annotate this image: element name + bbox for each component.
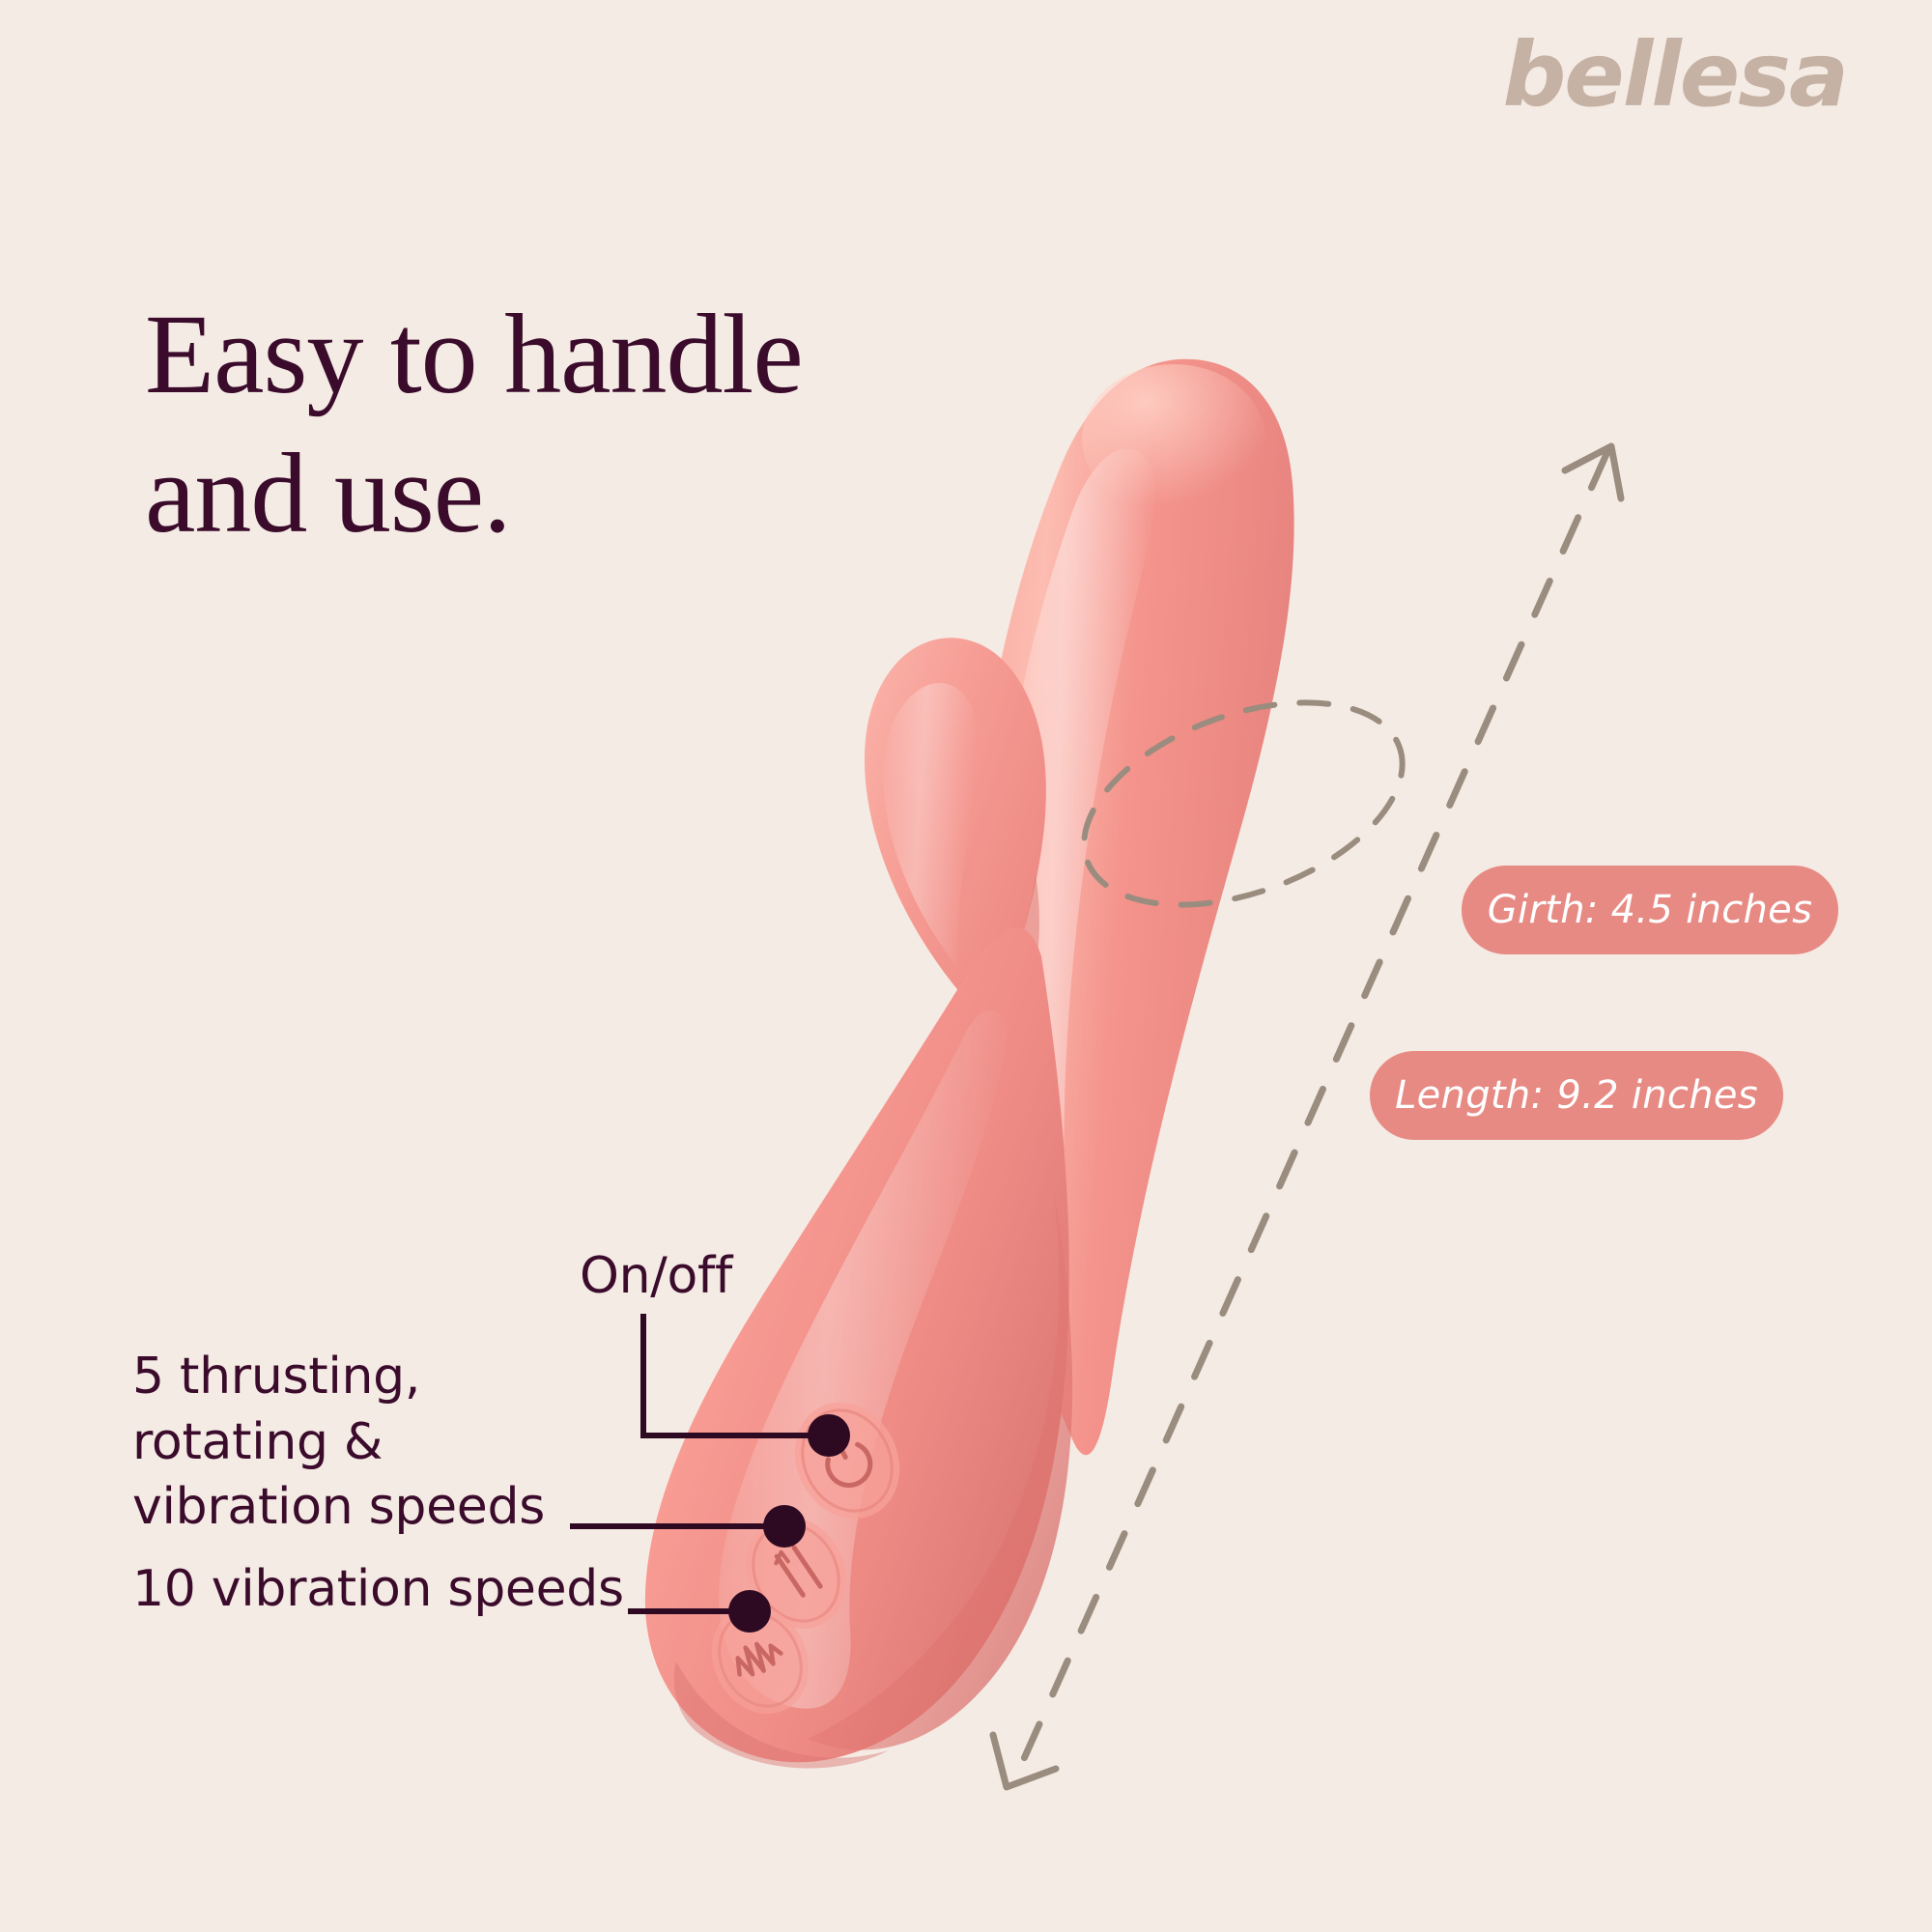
infographic-canvas: bellesa bbox=[0, 0, 1932, 1932]
callout-label-on-off: On/off bbox=[580, 1244, 732, 1310]
leader-dot-ten-speeds bbox=[728, 1590, 771, 1633]
callout-label-ten-speeds: 10 vibration speeds bbox=[132, 1557, 624, 1623]
page-title: Easy to handle and use. bbox=[145, 285, 803, 563]
leader-dot-five-speeds bbox=[763, 1505, 806, 1548]
callout-label-five-speeds: 5 thrusting, rotating & vibration speeds bbox=[132, 1345, 545, 1541]
leader-dot-on-off bbox=[808, 1414, 850, 1457]
product-handle bbox=[645, 928, 1072, 1769]
badge-length: Length: 9.2 inches bbox=[1370, 1051, 1783, 1140]
badge-girth: Girth: 4.5 inches bbox=[1462, 866, 1838, 954]
